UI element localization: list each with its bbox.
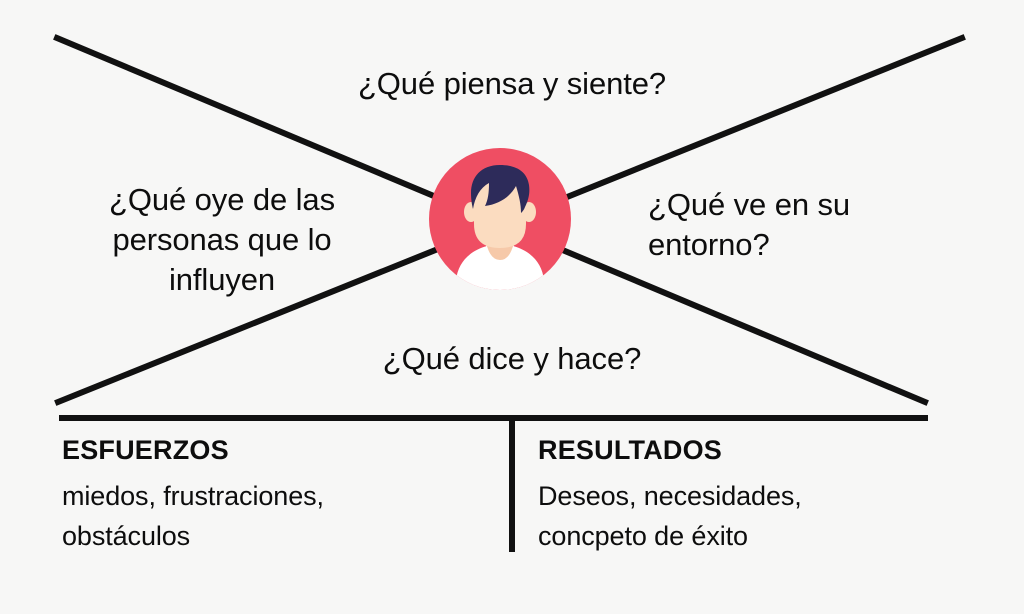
footer-section-gains: RESULTADOS Deseos, necesidades, concpeto… xyxy=(538,432,958,556)
quadrant-label-see: ¿Qué ve en su entorno? xyxy=(648,185,938,265)
quadrant-label-think-feel: ¿Qué piensa y siente? xyxy=(262,64,762,104)
persona-avatar xyxy=(429,148,571,290)
footer-body-pains: miedos, frustraciones, obstáculos xyxy=(62,476,482,556)
quadrant-label-say-do: ¿Qué dice y hace? xyxy=(262,339,762,379)
footer-title-pains: ESFUERZOS xyxy=(62,432,482,468)
footer-title-gains: RESULTADOS xyxy=(538,432,958,468)
footer-section-pains: ESFUERZOS miedos, frustraciones, obstácu… xyxy=(62,432,482,556)
quadrant-label-hear: ¿Qué oye de las personas que lo influyen xyxy=(62,180,382,300)
empathy-map-canvas: ¿Qué piensa y siente? ¿Qué oye de las pe… xyxy=(0,0,1024,614)
footer-body-gains: Deseos, necesidades, concpeto de éxito xyxy=(538,476,958,556)
